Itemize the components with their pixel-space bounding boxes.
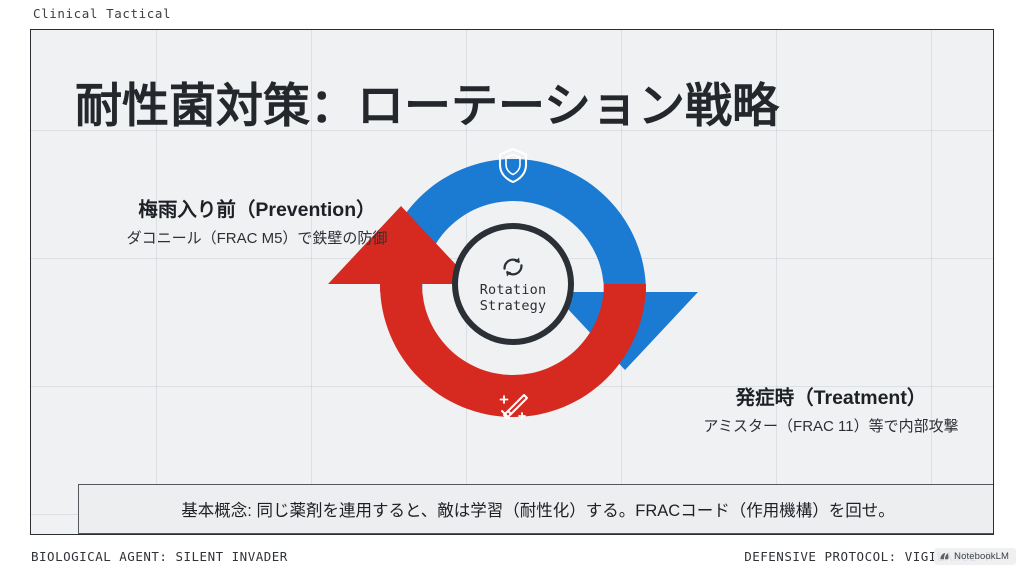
center-label-line2: Strategy: [480, 299, 547, 315]
footer-left-text: BIOLOGICAL AGENT: SILENT INVADER: [31, 549, 288, 564]
rotation-cycle-diagram: Rotation Strategy: [328, 124, 698, 444]
treatment-title: 発症時（Treatment）: [681, 386, 981, 411]
concept-note-text: 基本概念: 同じ薬剤を連用すると、敵は学習（耐性化）する。FRACコード（作用機…: [181, 497, 894, 521]
center-label-line1: Rotation: [480, 283, 547, 299]
prevention-title: 梅雨入り前（Prevention）: [107, 198, 407, 223]
treatment-subtitle: アミスター（FRAC 11）等で内部攻撃: [681, 417, 981, 437]
notebooklm-badge: NotebookLM: [934, 548, 1016, 565]
center-badge: Rotation Strategy: [452, 223, 574, 345]
notebooklm-badge-label: NotebookLM: [954, 551, 1009, 562]
notebooklm-logo-icon: [939, 551, 950, 562]
concept-note-box: 基本概念: 同じ薬剤を連用すると、敵は学習（耐性化）する。FRACコード（作用機…: [78, 484, 994, 534]
prevention-label-block: 梅雨入り前（Prevention） ダコニール（FRAC M5）で鉄壁の防御: [107, 198, 407, 250]
rotate-icon: [500, 254, 526, 280]
slide-frame: 耐性菌対策：ローテーション戦略: [30, 29, 994, 535]
deck-section-label: Clinical Tactical: [33, 6, 171, 21]
treatment-label-block: 発症時（Treatment） アミスター（FRAC 11）等で内部攻撃: [681, 386, 981, 438]
prevention-subtitle: ダコニール（FRAC M5）で鉄壁の防御: [107, 229, 407, 249]
